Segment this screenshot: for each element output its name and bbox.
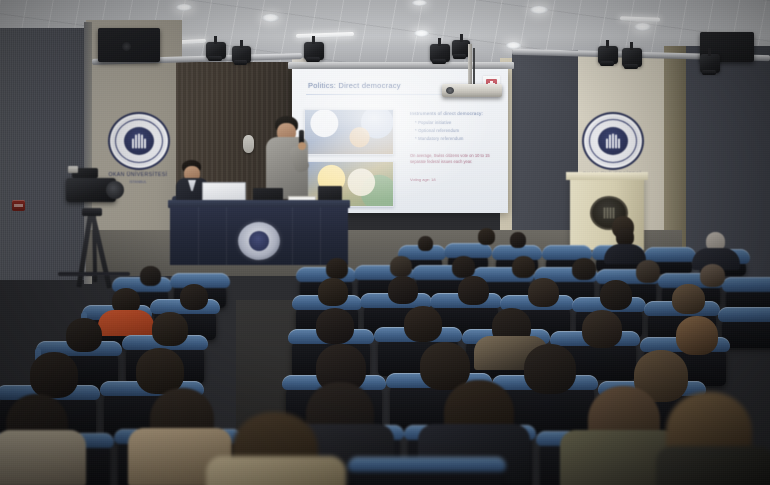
ceiling-downlight (262, 14, 279, 22)
seal-column-bars (604, 208, 615, 219)
audience-member (404, 306, 442, 342)
audience-head (452, 256, 475, 278)
audience-head (512, 256, 535, 278)
seat-rail (722, 277, 770, 292)
audience-member (390, 256, 412, 277)
speaker-driver (122, 42, 131, 51)
spotlight-lens (453, 54, 466, 59)
audience-head (478, 228, 495, 245)
wall-panel-right-inner (512, 50, 578, 250)
spotlight-yoke (214, 36, 217, 44)
projection-screen-housing (288, 62, 514, 69)
audience-head (458, 276, 489, 305)
stage-spotlight (598, 46, 618, 64)
audience-member (30, 352, 78, 398)
university-seal-left (108, 112, 170, 170)
slide-bullet: * Mandatory referendum (415, 136, 500, 141)
table-skirt-fold (292, 207, 293, 265)
seat-rail (348, 457, 506, 472)
audience-member (318, 278, 348, 306)
audience-member (140, 266, 161, 286)
spotlight-yoke (708, 48, 711, 56)
ceiling-speaker-left (98, 28, 160, 62)
projector-lens (446, 87, 454, 94)
table-university-seal (238, 222, 280, 260)
panel-table (168, 200, 350, 266)
seal-column-bars (606, 134, 620, 149)
audience-head (140, 266, 161, 286)
video-camera (62, 166, 124, 214)
audience-head (326, 258, 348, 279)
audience-head (152, 312, 188, 346)
ceiling-downlight (412, 0, 427, 6)
spotlight-yoke (630, 42, 633, 50)
audience-head (636, 260, 660, 283)
table-skirt-fold (198, 207, 199, 265)
lectern-top-surface (566, 172, 648, 180)
spotlight-lens (306, 57, 320, 62)
audience-member (524, 344, 576, 394)
spotlight-lens (702, 70, 716, 75)
spotlight-yoke (460, 34, 463, 42)
audience-member (316, 308, 354, 344)
camera-viewfinder (68, 166, 78, 173)
audience-head (180, 284, 208, 310)
audience-head (390, 256, 412, 277)
audience-head (510, 232, 526, 248)
wall-panel-left-texture (0, 28, 86, 280)
table-skirt-fold (320, 207, 321, 265)
audience-head (524, 344, 576, 394)
audience-head (672, 284, 705, 314)
table-skirt-fold (226, 207, 227, 265)
audience-member (458, 276, 489, 305)
audience-shoulders-orange (98, 310, 154, 336)
spotlight-lens (600, 61, 614, 66)
audience-member (528, 278, 559, 307)
audience-head (66, 318, 102, 352)
slide-bullet: * Optional referendum (415, 128, 500, 133)
audience-member (600, 280, 632, 310)
slide-lead-text: Instruments of direct democracy: (410, 111, 500, 116)
stage-spotlight (622, 48, 642, 67)
audience-member (388, 276, 418, 304)
audience-member (180, 284, 208, 310)
auditorium-photo: OKAN ÜNİVERSİTESİ İSTANBUL OKAN ÜNİVERSİ… (0, 0, 770, 485)
audience-head (388, 276, 418, 304)
audience-member (582, 310, 622, 348)
slide-bullet: * Popular initiative (415, 120, 500, 125)
audience-member (672, 284, 705, 314)
audience-head (528, 278, 559, 307)
spotlight-yoke (312, 36, 315, 44)
slide-bullet-block: Instruments of direct democracy: * Popul… (410, 111, 500, 145)
stage-spotlight (700, 54, 720, 73)
projector-mount-pole (468, 44, 472, 86)
audience-shoulders-cream (0, 430, 86, 485)
ceiling-downlight (634, 23, 651, 31)
stage-spotlight (430, 44, 450, 62)
tripod-spreader (58, 272, 130, 276)
seal-column-bars (132, 134, 146, 149)
seat-rail (718, 307, 770, 322)
audience-head (572, 258, 596, 280)
spotlight-lens (208, 56, 222, 61)
audience-member (510, 232, 526, 248)
projector-cable (473, 48, 475, 86)
auditorium-seat (352, 462, 502, 485)
spotlight-lens (624, 64, 638, 69)
slide-title: Politics: Direct democracy (308, 81, 401, 90)
audience-member (572, 258, 596, 280)
audience-member (478, 228, 495, 245)
stage-spotlight (206, 42, 226, 59)
audience-head (30, 352, 78, 398)
spotlight-lens (234, 60, 247, 65)
spotlight-lens (432, 59, 446, 64)
presenter-hand (298, 142, 306, 150)
ceiling-downlight (176, 4, 192, 11)
ceiling-downlight (530, 6, 548, 14)
audience-head (600, 280, 632, 310)
slide-photo-top (304, 109, 394, 155)
wall-panel-right (686, 46, 770, 282)
ceiling-downlight (414, 30, 429, 37)
slide-footer-text: Voting age: 18 (410, 177, 436, 182)
audience-member (512, 256, 535, 278)
audience-head (318, 278, 348, 306)
audience-head (316, 308, 354, 344)
stage-spotlight (304, 42, 324, 60)
fire-alarm-box (12, 200, 25, 211)
audience-member (452, 256, 475, 278)
audience-member (152, 312, 188, 346)
wall-speaker-left (243, 135, 254, 153)
stage-spotlight (232, 46, 251, 63)
audience-shoulders-foreground (206, 456, 346, 485)
spotlight-yoke (606, 40, 609, 48)
audience-shoulders-foreground (656, 446, 770, 485)
laptop-screen (202, 182, 246, 202)
audience-member (66, 318, 102, 352)
audience-head (404, 306, 442, 342)
camera-lens (106, 181, 124, 199)
audience-member (418, 236, 433, 251)
spotlight-yoke (438, 38, 441, 46)
slide-note-text: On average, Swiss citizens vote on 10 to… (410, 153, 502, 166)
audience-member (636, 260, 660, 283)
ceiling-projector (442, 84, 502, 97)
university-seal-right (582, 112, 644, 170)
audience-head (582, 310, 622, 348)
audience-member (326, 258, 348, 279)
seal-core (249, 231, 269, 251)
audience-head (418, 236, 433, 251)
spotlight-yoke (240, 40, 243, 48)
